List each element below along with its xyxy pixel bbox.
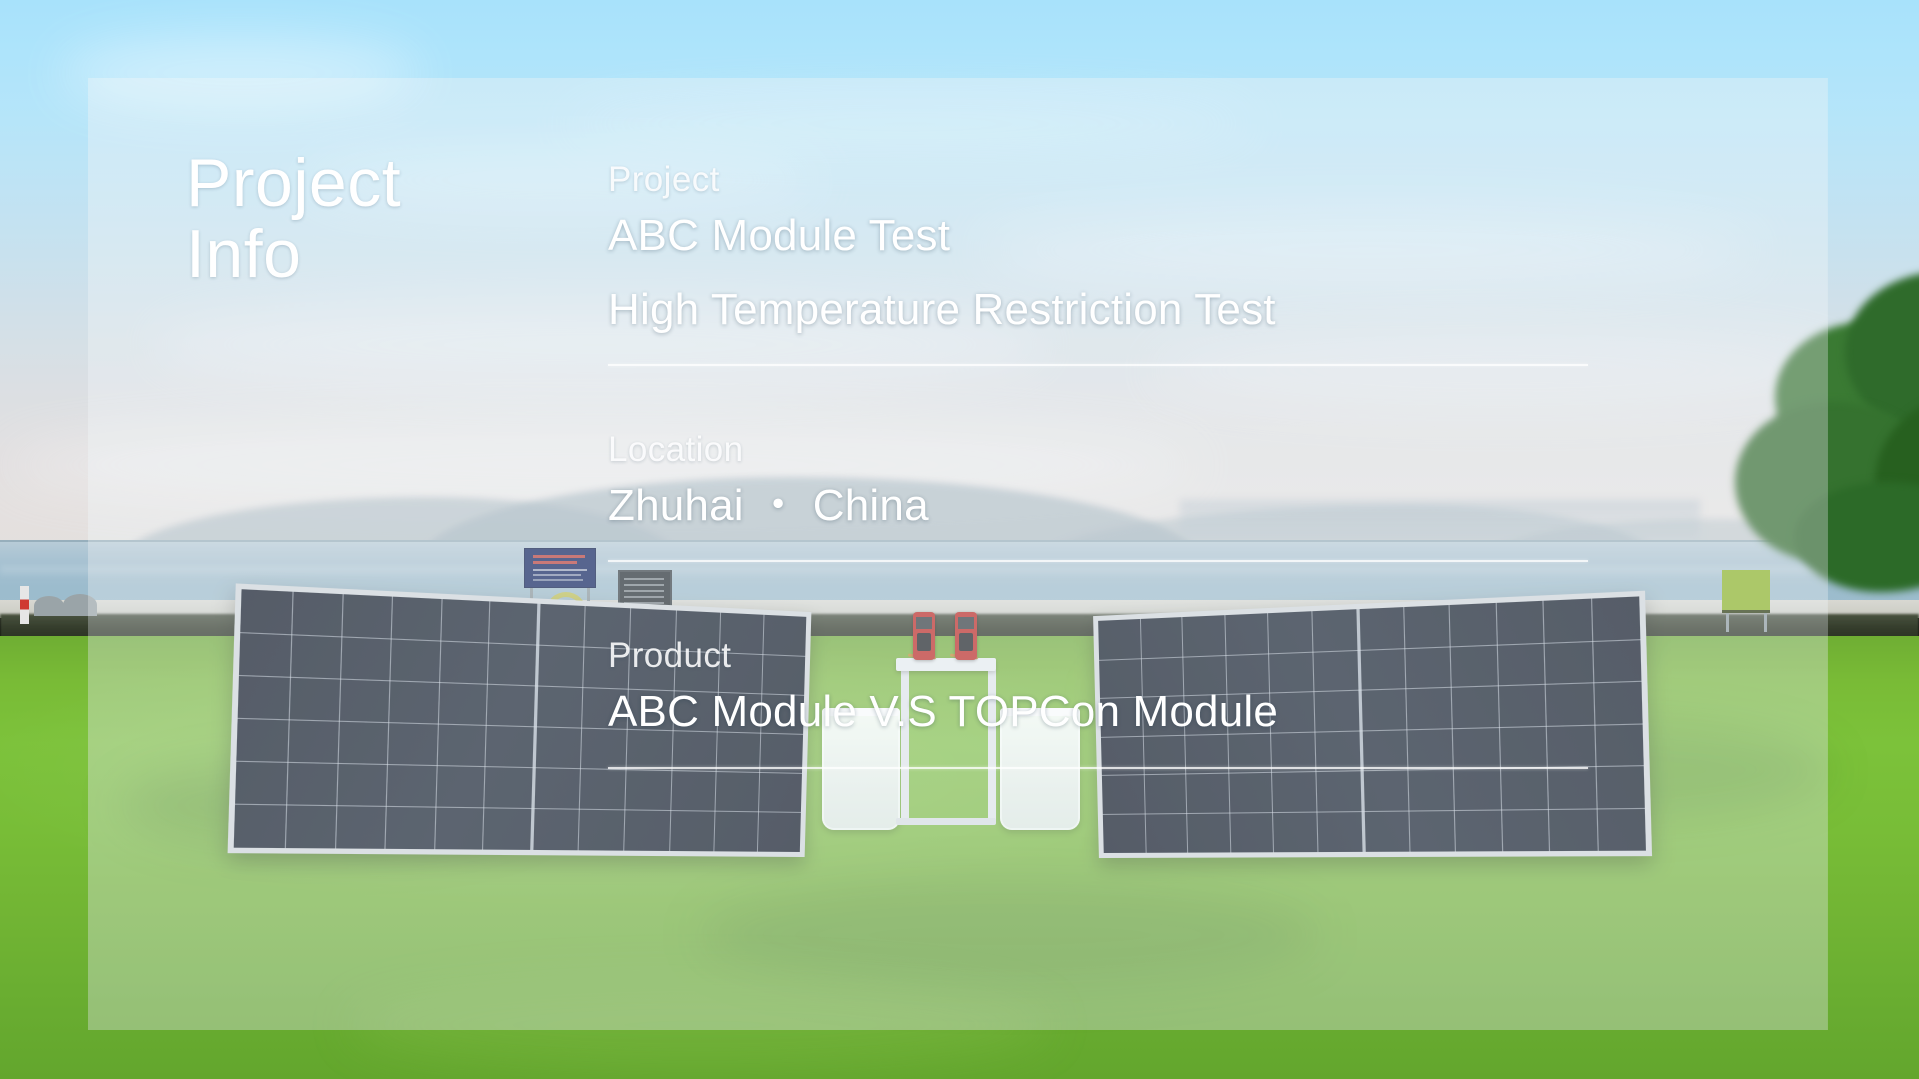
field-value-location: Zhuhai ・ China bbox=[608, 478, 1588, 534]
field-divider bbox=[608, 767, 1588, 769]
page-title: Project Info bbox=[186, 148, 546, 289]
field-location: Location Zhuhai ・ China bbox=[608, 428, 1588, 562]
field-divider bbox=[608, 364, 1588, 366]
field-value-project-subtitle: High Temperature Restriction Test bbox=[608, 282, 1588, 338]
field-product: Product ABC Module V.S TOPCon Module bbox=[608, 634, 1588, 768]
field-value-project-name: ABC Module Test bbox=[608, 208, 1588, 264]
field-label-project: Project bbox=[608, 158, 1588, 202]
field-value-product: ABC Module V.S TOPCon Module bbox=[608, 684, 1588, 740]
slide-content: Project Info Project ABC Module Test Hig… bbox=[0, 0, 1919, 1079]
field-project: Project ABC Module Test High Temperature… bbox=[608, 158, 1588, 366]
project-info-fields: Project ABC Module Test High Temperature… bbox=[608, 158, 1588, 769]
field-divider bbox=[608, 560, 1588, 562]
slide-canvas: Project Info Project ABC Module Test Hig… bbox=[0, 0, 1919, 1079]
field-label-location: Location bbox=[608, 428, 1588, 472]
field-label-product: Product bbox=[608, 634, 1588, 678]
